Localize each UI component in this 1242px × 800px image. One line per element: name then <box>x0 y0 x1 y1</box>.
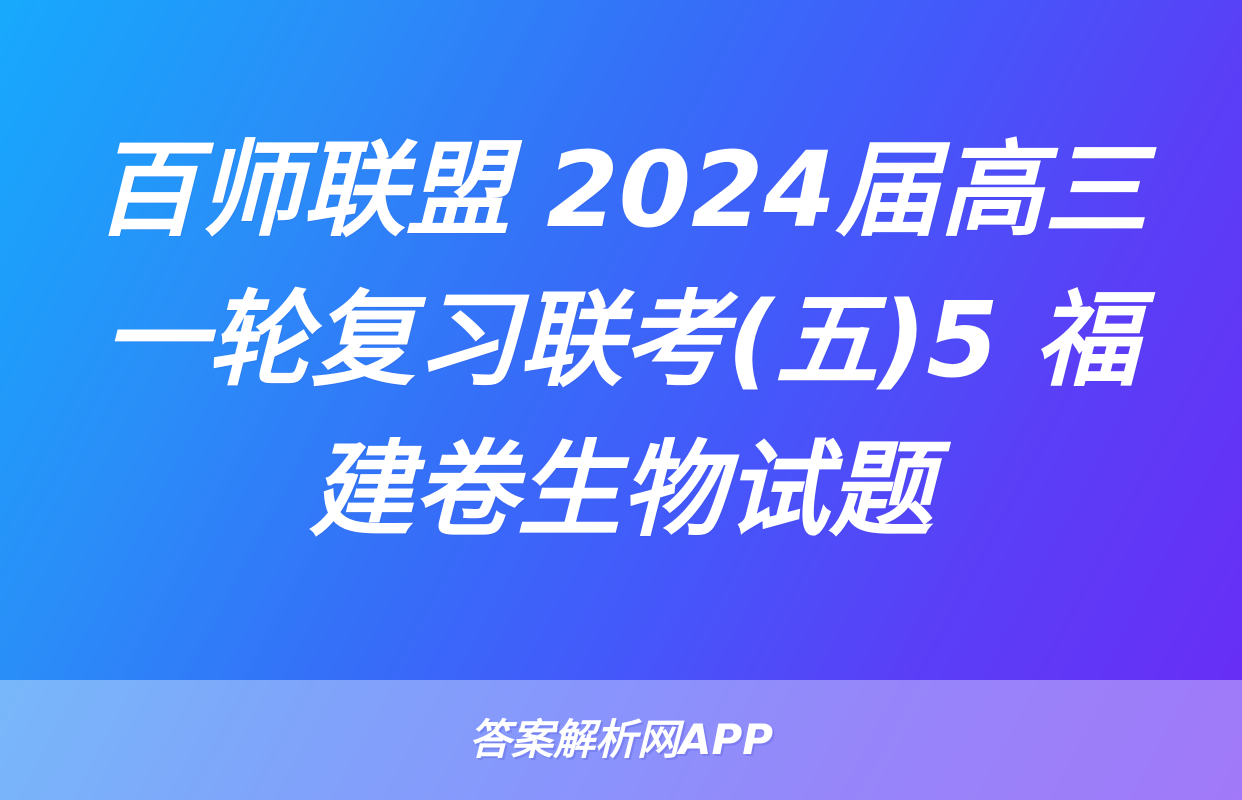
page-title: 百师联盟 2024届高三一轮复习联考(五)5 福建卷生物试题 <box>85 115 1157 565</box>
watermark-band: 答案解析网APP <box>0 680 1242 800</box>
app-watermark-label: 答案解析网APP <box>469 719 773 761</box>
title-block: 百师联盟 2024届高三一轮复习联考(五)5 福建卷生物试题 <box>0 0 1242 680</box>
poster-card: 百师联盟 2024届高三一轮复习联考(五)5 福建卷生物试题 答案解析网APP <box>0 0 1242 800</box>
